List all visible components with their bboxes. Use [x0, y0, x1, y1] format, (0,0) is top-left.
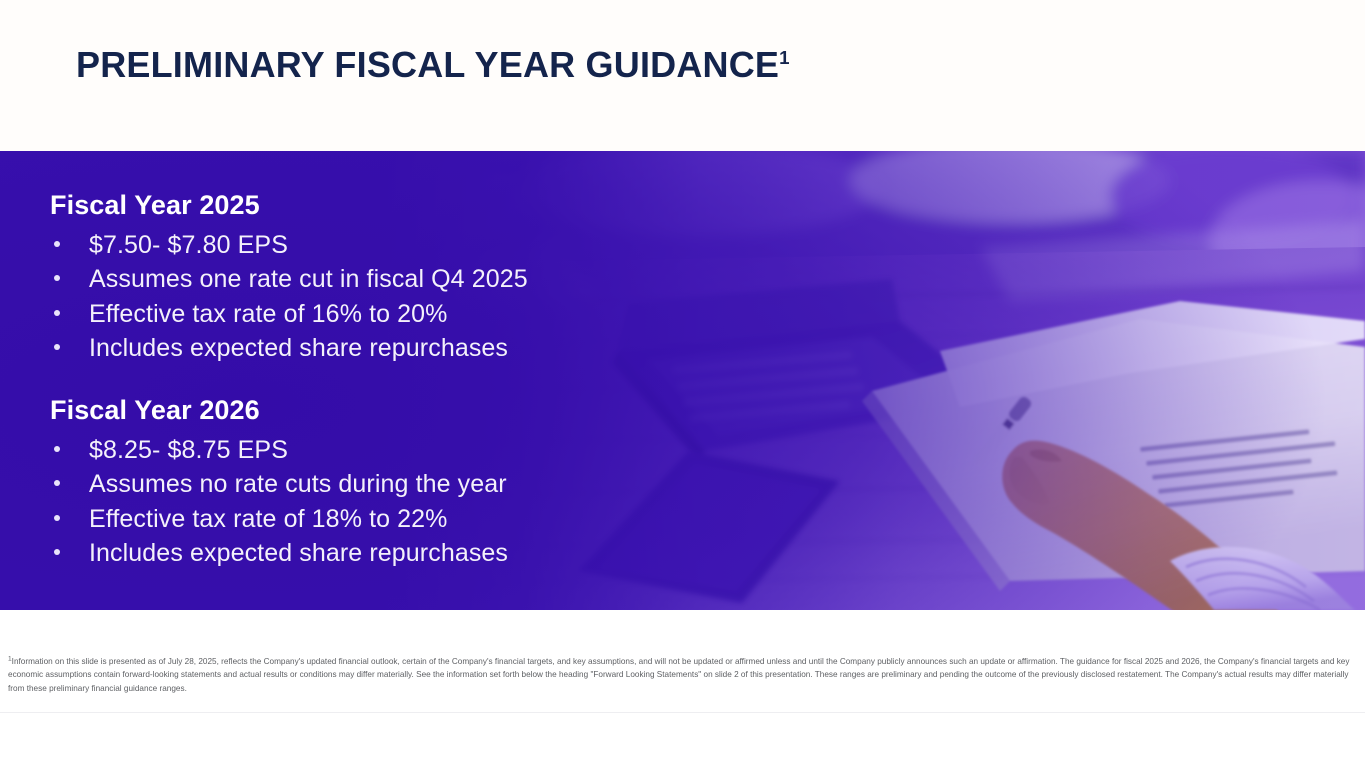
list-item-label: $7.50- $7.80 EPS: [89, 231, 288, 259]
bullet-dot-icon: [54, 275, 60, 281]
bullet-dot-icon: [54, 344, 60, 350]
list-item: $8.25- $8.75 EPS: [50, 433, 690, 468]
footer: 8 Pathward Financial, Inc. (Nasdaq: CASH…: [0, 713, 1365, 768]
guidance-group-fy2025: Fiscal Year 2025 $7.50- $7.80 EPS Assume…: [50, 189, 690, 366]
list-item: Effective tax rate of 18% to 22%: [50, 502, 690, 537]
bullet-dot-icon: [54, 446, 60, 452]
footnote-text: Information on this slide is presented a…: [8, 657, 1349, 693]
list-item: Assumes one rate cut in fiscal Q4 2025: [50, 262, 690, 297]
list-item: $7.50- $7.80 EPS: [50, 228, 690, 263]
bullet-list: $7.50- $7.80 EPS Assumes one rate cut in…: [50, 228, 690, 366]
list-item: Effective tax rate of 16% to 20%: [50, 297, 690, 332]
title-area: PRELIMINARY FISCAL YEAR GUIDANCE1: [0, 0, 1365, 151]
guidance-group-fy2026: Fiscal Year 2026 $8.25- $8.75 EPS Assume…: [50, 394, 690, 571]
hero-band: Fiscal Year 2025 $7.50- $7.80 EPS Assume…: [0, 151, 1365, 610]
bullet-dot-icon: [54, 310, 60, 316]
list-item: Includes expected share repurchases: [50, 536, 690, 571]
page-title-text: PRELIMINARY FISCAL YEAR GUIDANCE: [76, 44, 779, 85]
list-item-label: Effective tax rate of 18% to 22%: [89, 505, 448, 533]
list-item-label: Includes expected share repurchases: [89, 539, 508, 567]
presentation-slide: PRELIMINARY FISCAL YEAR GUIDANCE1: [0, 0, 1365, 768]
list-item: Includes expected share repurchases: [50, 331, 690, 366]
group-heading: Fiscal Year 2025: [50, 189, 690, 223]
list-item: Assumes no rate cuts during the year: [50, 467, 690, 502]
bullet-list: $8.25- $8.75 EPS Assumes no rate cuts du…: [50, 433, 690, 571]
bullet-dot-icon: [54, 515, 60, 521]
list-item-label: $8.25- $8.75 EPS: [89, 436, 288, 464]
list-item-label: Effective tax rate of 16% to 20%: [89, 300, 448, 328]
list-item-label: Includes expected share repurchases: [89, 334, 508, 362]
footnote: 1Information on this slide is presented …: [8, 655, 1356, 695]
bullet-dot-icon: [54, 549, 60, 555]
list-item-label: Assumes no rate cuts during the year: [89, 470, 507, 498]
guidance-content: Fiscal Year 2025 $7.50- $7.80 EPS Assume…: [50, 189, 690, 571]
page-title-footnote-marker: 1: [779, 47, 790, 68]
page-title: PRELIMINARY FISCAL YEAR GUIDANCE1: [76, 47, 790, 83]
bullet-dot-icon: [54, 241, 60, 247]
list-item-label: Assumes one rate cut in fiscal Q4 2025: [89, 265, 528, 293]
bullet-dot-icon: [54, 480, 60, 486]
group-heading: Fiscal Year 2026: [50, 394, 690, 428]
